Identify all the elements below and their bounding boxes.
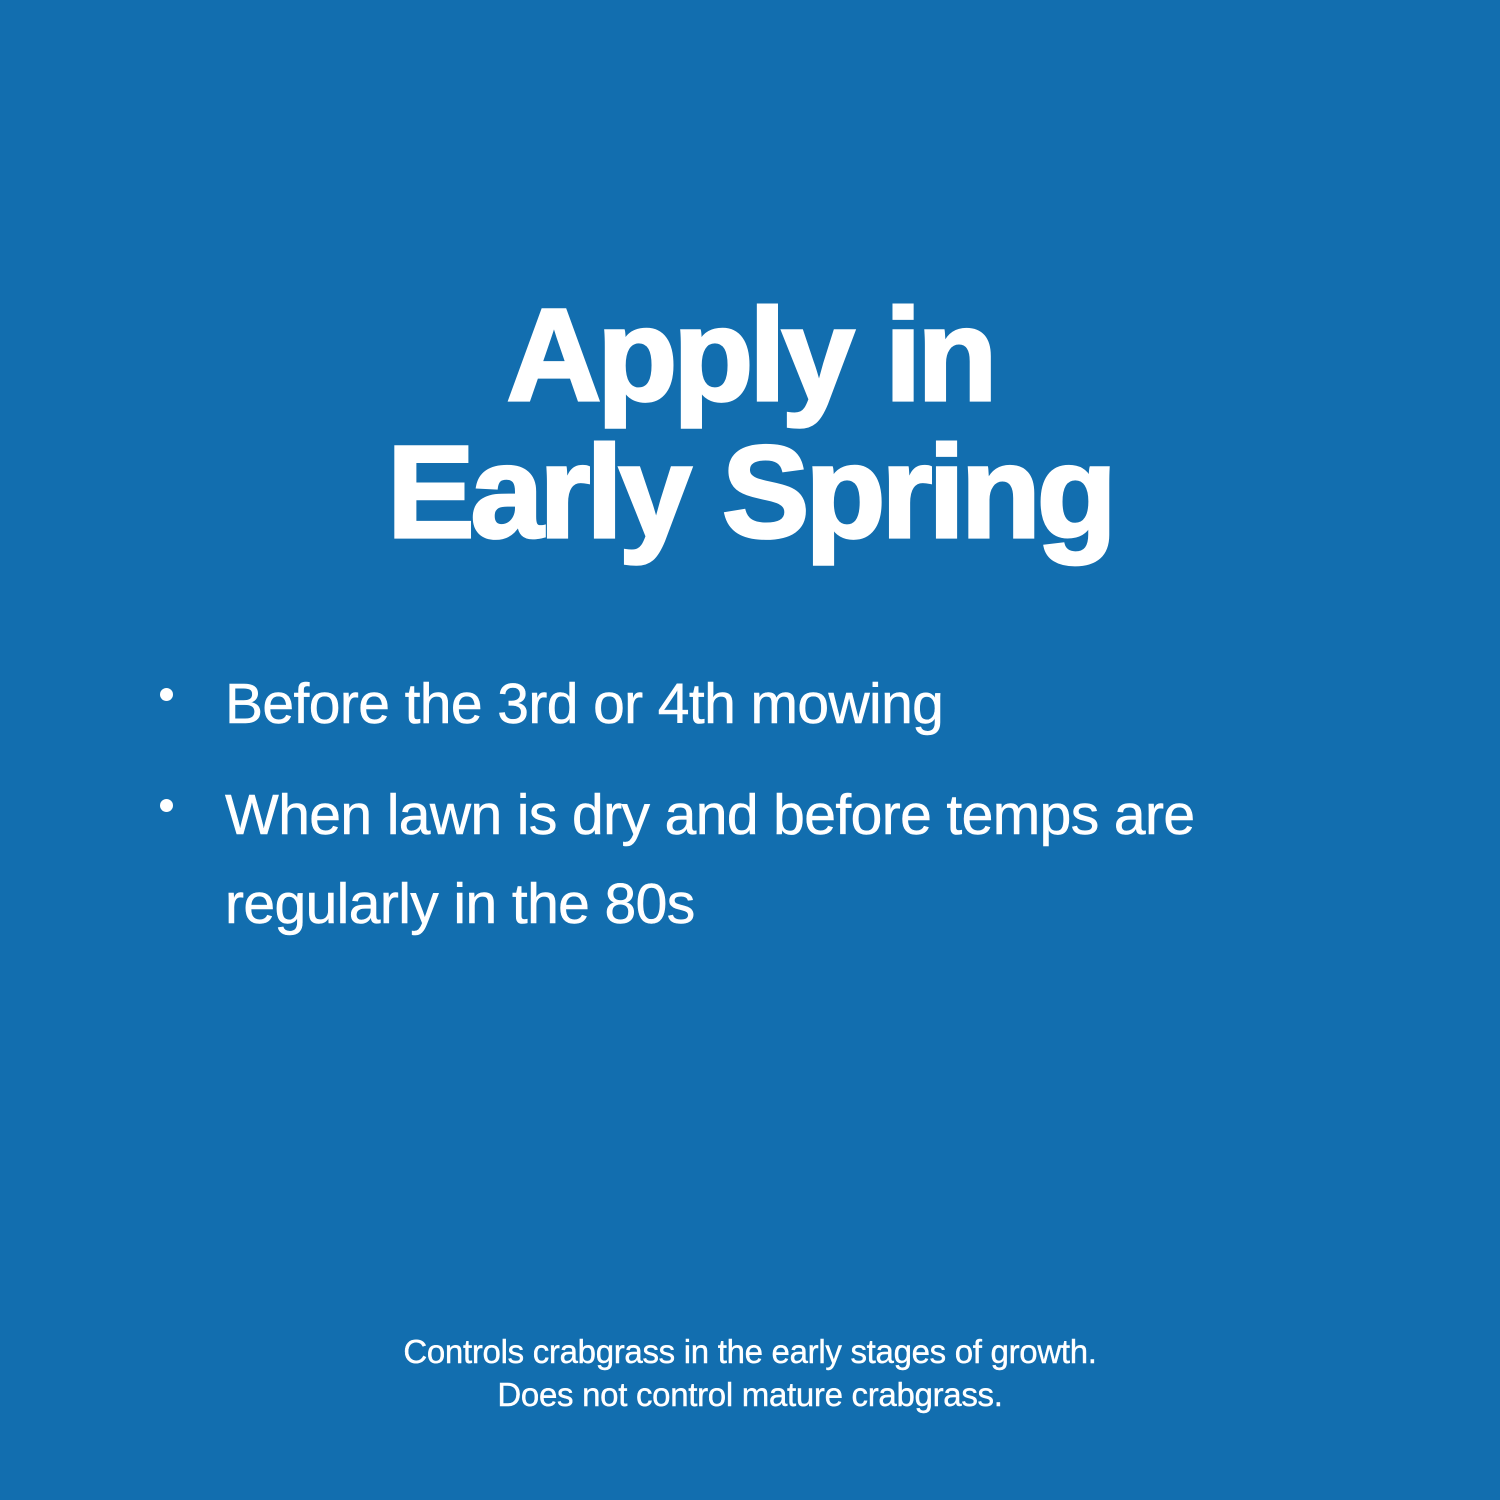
page-title: Apply in Early Spring (0, 286, 1500, 560)
footer-note-line-1: Controls crabgrass in the early stages o… (0, 1330, 1500, 1373)
bullet-list: Before the 3rd or 4th mowing When lawn i… (150, 660, 1380, 971)
bullet-dot-icon (150, 660, 225, 701)
page-title-line-2: Early Spring (0, 423, 1500, 560)
page-title-line-1: Apply in (0, 286, 1500, 423)
list-item-label: Before the 3rd or 4th mowing (225, 660, 1380, 749)
list-item: Before the 3rd or 4th mowing (150, 660, 1380, 749)
list-item-label: When lawn is dry and before temps are re… (225, 771, 1380, 949)
bullet-dot-icon (150, 771, 225, 812)
footer-note: Controls crabgrass in the early stages o… (0, 1330, 1500, 1416)
promo-card: Apply in Early Spring Before the 3rd or … (0, 0, 1500, 1500)
list-item: When lawn is dry and before temps are re… (150, 771, 1380, 949)
footer-note-line-2: Does not control mature crabgrass. (0, 1373, 1500, 1416)
